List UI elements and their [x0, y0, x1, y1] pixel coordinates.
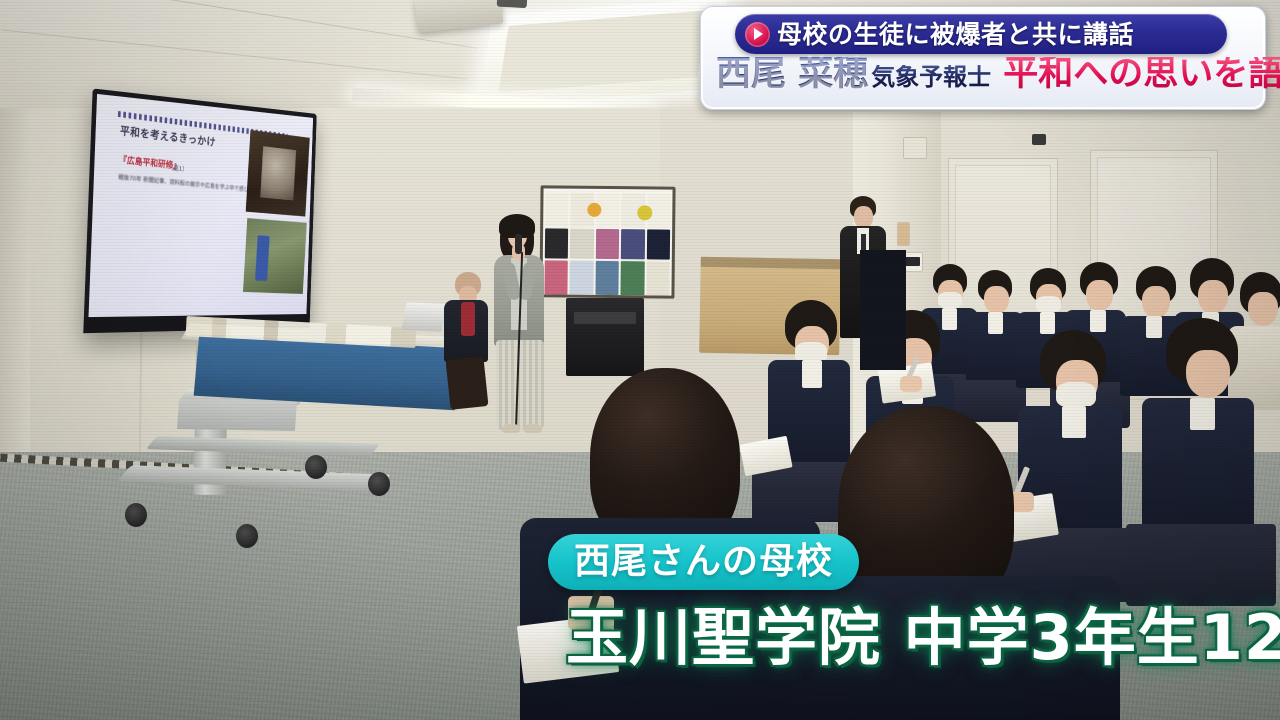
- slide-photo-top: [245, 130, 309, 216]
- foreground-left-shoulder: [860, 250, 906, 370]
- topic-banner: 母校の生徒に被爆者と共に講話: [735, 14, 1227, 54]
- lower-third-caption: 玉川聖学院 中学3年生124人: [566, 607, 1280, 669]
- headline-action: 平和への思いを語る: [1003, 57, 1280, 92]
- light-panel-inner: [499, 10, 708, 92]
- cart-caster: [368, 472, 390, 496]
- cart-caster: [305, 455, 327, 479]
- broadcast-screenshot: 平和を考えるきっかけ 『広島平和研修』 （高1） 戦後70年 新聞記事、資料館の…: [0, 0, 1280, 720]
- poster-board: [539, 185, 675, 298]
- microphone: [515, 234, 522, 254]
- wall-camera: [1032, 134, 1046, 145]
- lower-third-label-text: 西尾さんの母校: [574, 544, 833, 580]
- headline-person-role: 気象予報士: [871, 65, 991, 89]
- wall-sign: [903, 137, 927, 159]
- laptop: [401, 302, 446, 332]
- slide-highlight-note: （高1）: [167, 161, 187, 173]
- lower-third-label: 西尾さんの母校: [548, 534, 859, 590]
- cart-caster: [236, 524, 258, 548]
- headline: 西尾 菜穂 気象予報士 平和への思いを語る: [716, 57, 1256, 103]
- cart-caster: [125, 503, 147, 527]
- headline-person-name: 西尾 菜穂: [716, 57, 868, 92]
- topic-banner-text: 母校の生徒に被爆者と共に講話: [777, 22, 1134, 47]
- slide-photo-bottom: [243, 218, 307, 294]
- av-equipment-rack: [566, 298, 644, 376]
- display-cart-shelf-edge: [177, 399, 297, 431]
- play-icon: [745, 22, 770, 47]
- presentation-display: 平和を考えるきっかけ 『広島平和研修』 （高1） 戦後70年 新聞記事、資料館の…: [83, 88, 316, 333]
- wall-notice: [897, 222, 910, 246]
- slide-screen: 平和を考えるきっかけ 『広島平和研修』 （高1） 戦後70年 新聞記事、資料館の…: [88, 94, 313, 317]
